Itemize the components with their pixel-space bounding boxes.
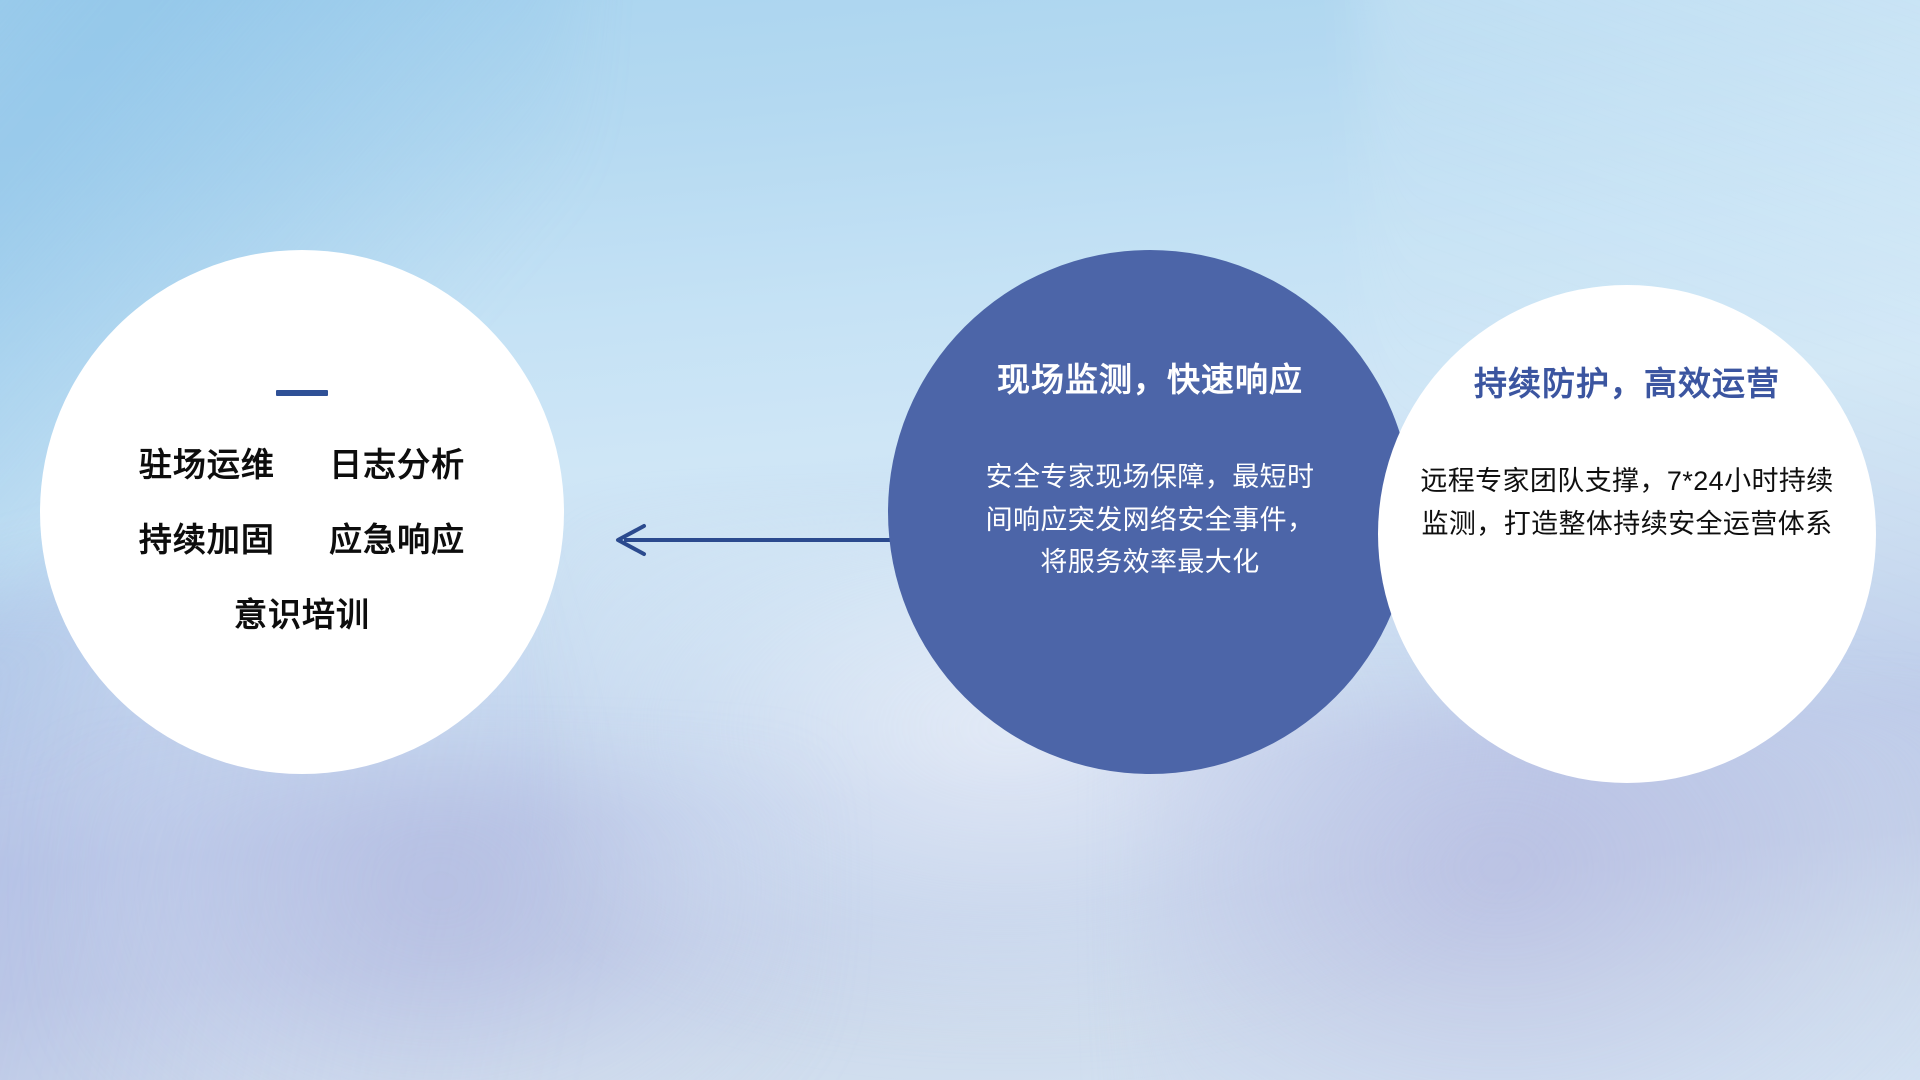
capability-circle-left: 驻场运维 日志分析 持续加固 应急响应 意识培训	[40, 250, 564, 774]
capability-row-2: 持续加固 应急响应	[139, 523, 465, 556]
capability-circle-middle	[888, 250, 1412, 774]
capability-row-1: 驻场运维 日志分析	[139, 448, 465, 481]
capability-row-3: 意识培训	[234, 598, 370, 631]
capability-circle-right	[1378, 285, 1876, 783]
capability-tag-emergency-response: 应急响应	[329, 521, 465, 558]
capability-tag-onsite-ops: 驻场运维	[139, 446, 275, 483]
background-lavender-left	[60, 760, 820, 1080]
capability-tag-log-analysis: 日志分析	[329, 446, 465, 483]
diagram-canvas: 驻场运维 日志分析 持续加固 应急响应 意识培训 现场监测，快速响应 安全专家现…	[0, 0, 1920, 1080]
capability-tag-awareness-training: 意识培训	[234, 596, 370, 633]
left-arrow-icon	[600, 520, 900, 560]
divider-dash	[276, 390, 328, 396]
capability-tag-continuous-hardening: 持续加固	[139, 521, 275, 558]
